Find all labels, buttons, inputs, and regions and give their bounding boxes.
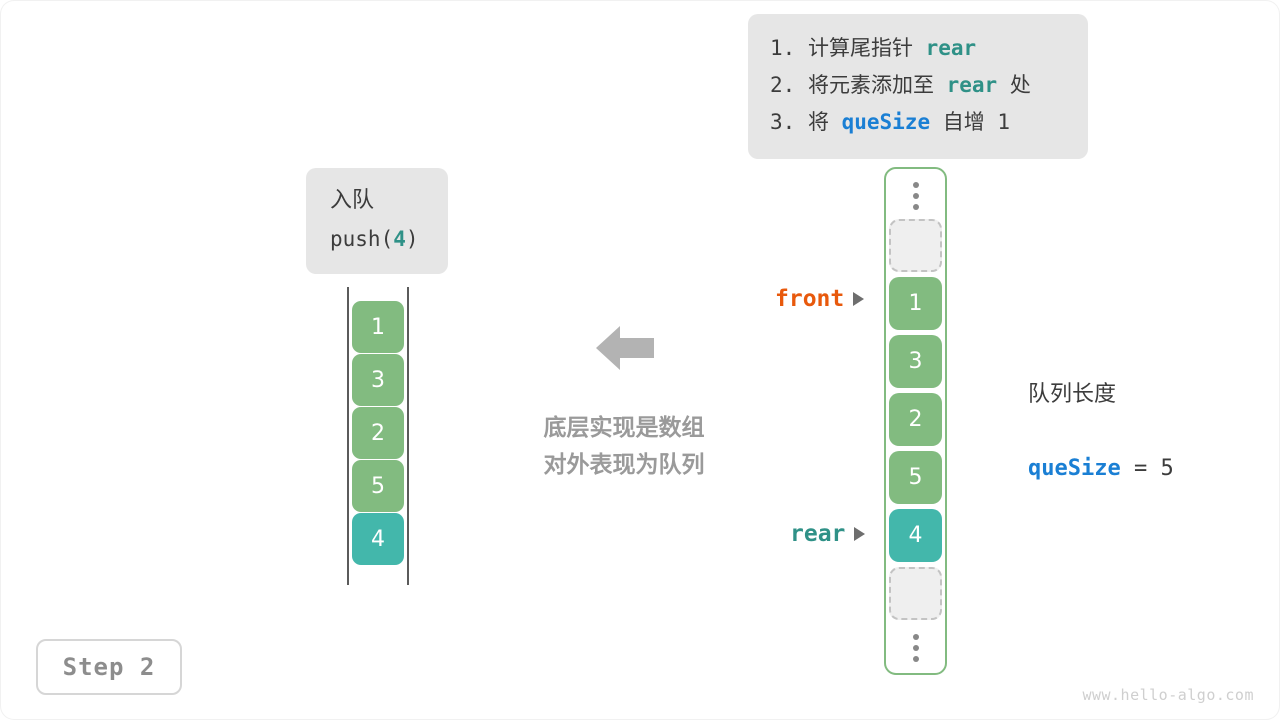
queue-size-expression: queSize = 5 — [1028, 450, 1174, 488]
front-pointer-label: front — [775, 286, 864, 312]
step-1-keyword: rear — [926, 36, 977, 60]
step-2-keyword: rear — [947, 73, 998, 97]
push-title: 入队 — [306, 182, 448, 220]
queue-size-title: 队列长度 — [1028, 378, 1174, 412]
array-cell-list: 1 3 2 5 4 — [889, 173, 942, 671]
queue-size-variable: queSize — [1028, 456, 1121, 481]
step-2-post-text: 处 — [997, 73, 1031, 97]
rear-pointer-arrow-icon — [854, 527, 865, 541]
operation-step-2: 2. 将元素添加至 rear 处 — [770, 67, 1066, 104]
front-pointer-arrow-icon — [853, 292, 864, 306]
queue-size-value: = 5 — [1121, 456, 1174, 481]
operation-step-3: 3. 将 queSize 自增 1 — [770, 104, 1066, 141]
queue-cell: 1 — [352, 301, 404, 353]
watermark: www.hello-algo.com — [1082, 686, 1254, 704]
step-2-number: 2. — [770, 73, 795, 97]
step-2-pre-text: 将元素添加至 — [795, 73, 946, 97]
array-cell: 2 — [889, 393, 942, 446]
rear-pointer-text: rear — [790, 521, 845, 547]
array-cell: 1 — [889, 277, 942, 330]
queue-cell: 2 — [352, 407, 404, 459]
caption-line-1: 底层实现是数组 — [508, 410, 740, 447]
ellipsis-top-icon — [913, 173, 919, 219]
step-1-number: 1. — [770, 36, 795, 60]
array-cell-empty — [889, 219, 942, 272]
step-3-pre-text: 将 — [795, 110, 841, 134]
push-call-value: 4 — [393, 227, 406, 251]
center-caption: 底层实现是数组 对外表现为队列 — [508, 410, 740, 484]
queue-cell: 3 — [352, 354, 404, 406]
queue-rail-left — [347, 287, 349, 585]
caption-line-2: 对外表现为队列 — [508, 447, 740, 484]
array-cell-new: 4 — [889, 509, 942, 562]
left-arrow-icon — [594, 320, 656, 380]
front-pointer-text: front — [775, 286, 844, 312]
step-1-pre-text: 计算尾指针 — [795, 36, 925, 60]
push-operation-panel: 入队 push(4) — [306, 168, 448, 274]
rear-pointer-label: rear — [790, 521, 865, 547]
push-call: push(4) — [306, 220, 448, 258]
queue-size-note: 队列长度 queSize = 5 — [1028, 340, 1174, 526]
diagram-canvas: 1. 计算尾指针 rear 2. 将元素添加至 rear 处 3. 将 queS… — [0, 0, 1280, 720]
step-3-number: 3. — [770, 110, 795, 134]
operation-steps-panel: 1. 计算尾指针 rear 2. 将元素添加至 rear 处 3. 将 queS… — [748, 14, 1088, 159]
array-container: 1 3 2 5 4 — [884, 167, 947, 675]
queue-cell-new: 4 — [352, 513, 404, 565]
queue-cell-list: 1 3 2 5 4 — [352, 301, 404, 566]
queue-cell: 5 — [352, 460, 404, 512]
step-badge: Step 2 — [36, 639, 182, 695]
array-cell: 5 — [889, 451, 942, 504]
step-3-post-text: 自增 1 — [930, 110, 1010, 134]
array-cell-empty — [889, 567, 942, 620]
queue-rail-right — [407, 287, 409, 585]
operation-step-1: 1. 计算尾指针 rear — [770, 30, 1066, 67]
array-cell: 3 — [889, 335, 942, 388]
push-call-prefix: push( — [330, 227, 393, 251]
step-3-keyword: queSize — [842, 110, 931, 134]
queue-column: 1 3 2 5 4 — [347, 287, 409, 585]
ellipsis-bottom-icon — [913, 625, 919, 671]
push-call-suffix: ) — [406, 227, 419, 251]
